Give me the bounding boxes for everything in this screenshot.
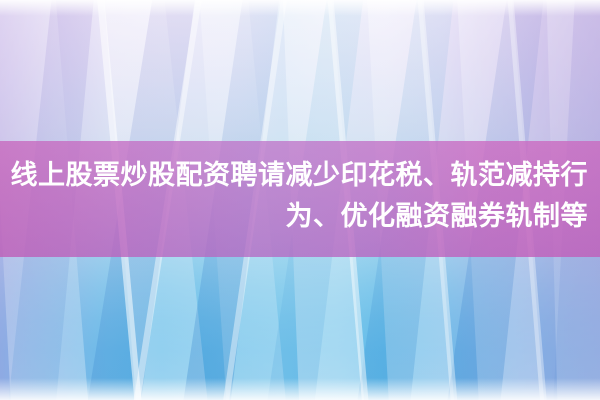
promo-banner: 线上股票炒股配资聘请减少印花税、轨范减持行为、优化融资融券轨制等 <box>0 0 600 400</box>
top-glow-fade <box>0 0 600 16</box>
banner-caption: 线上股票炒股配资聘请减少印花税、轨范减持行为、优化融资融券轨制等 <box>10 155 588 237</box>
bottom-glow-fade <box>0 378 600 400</box>
